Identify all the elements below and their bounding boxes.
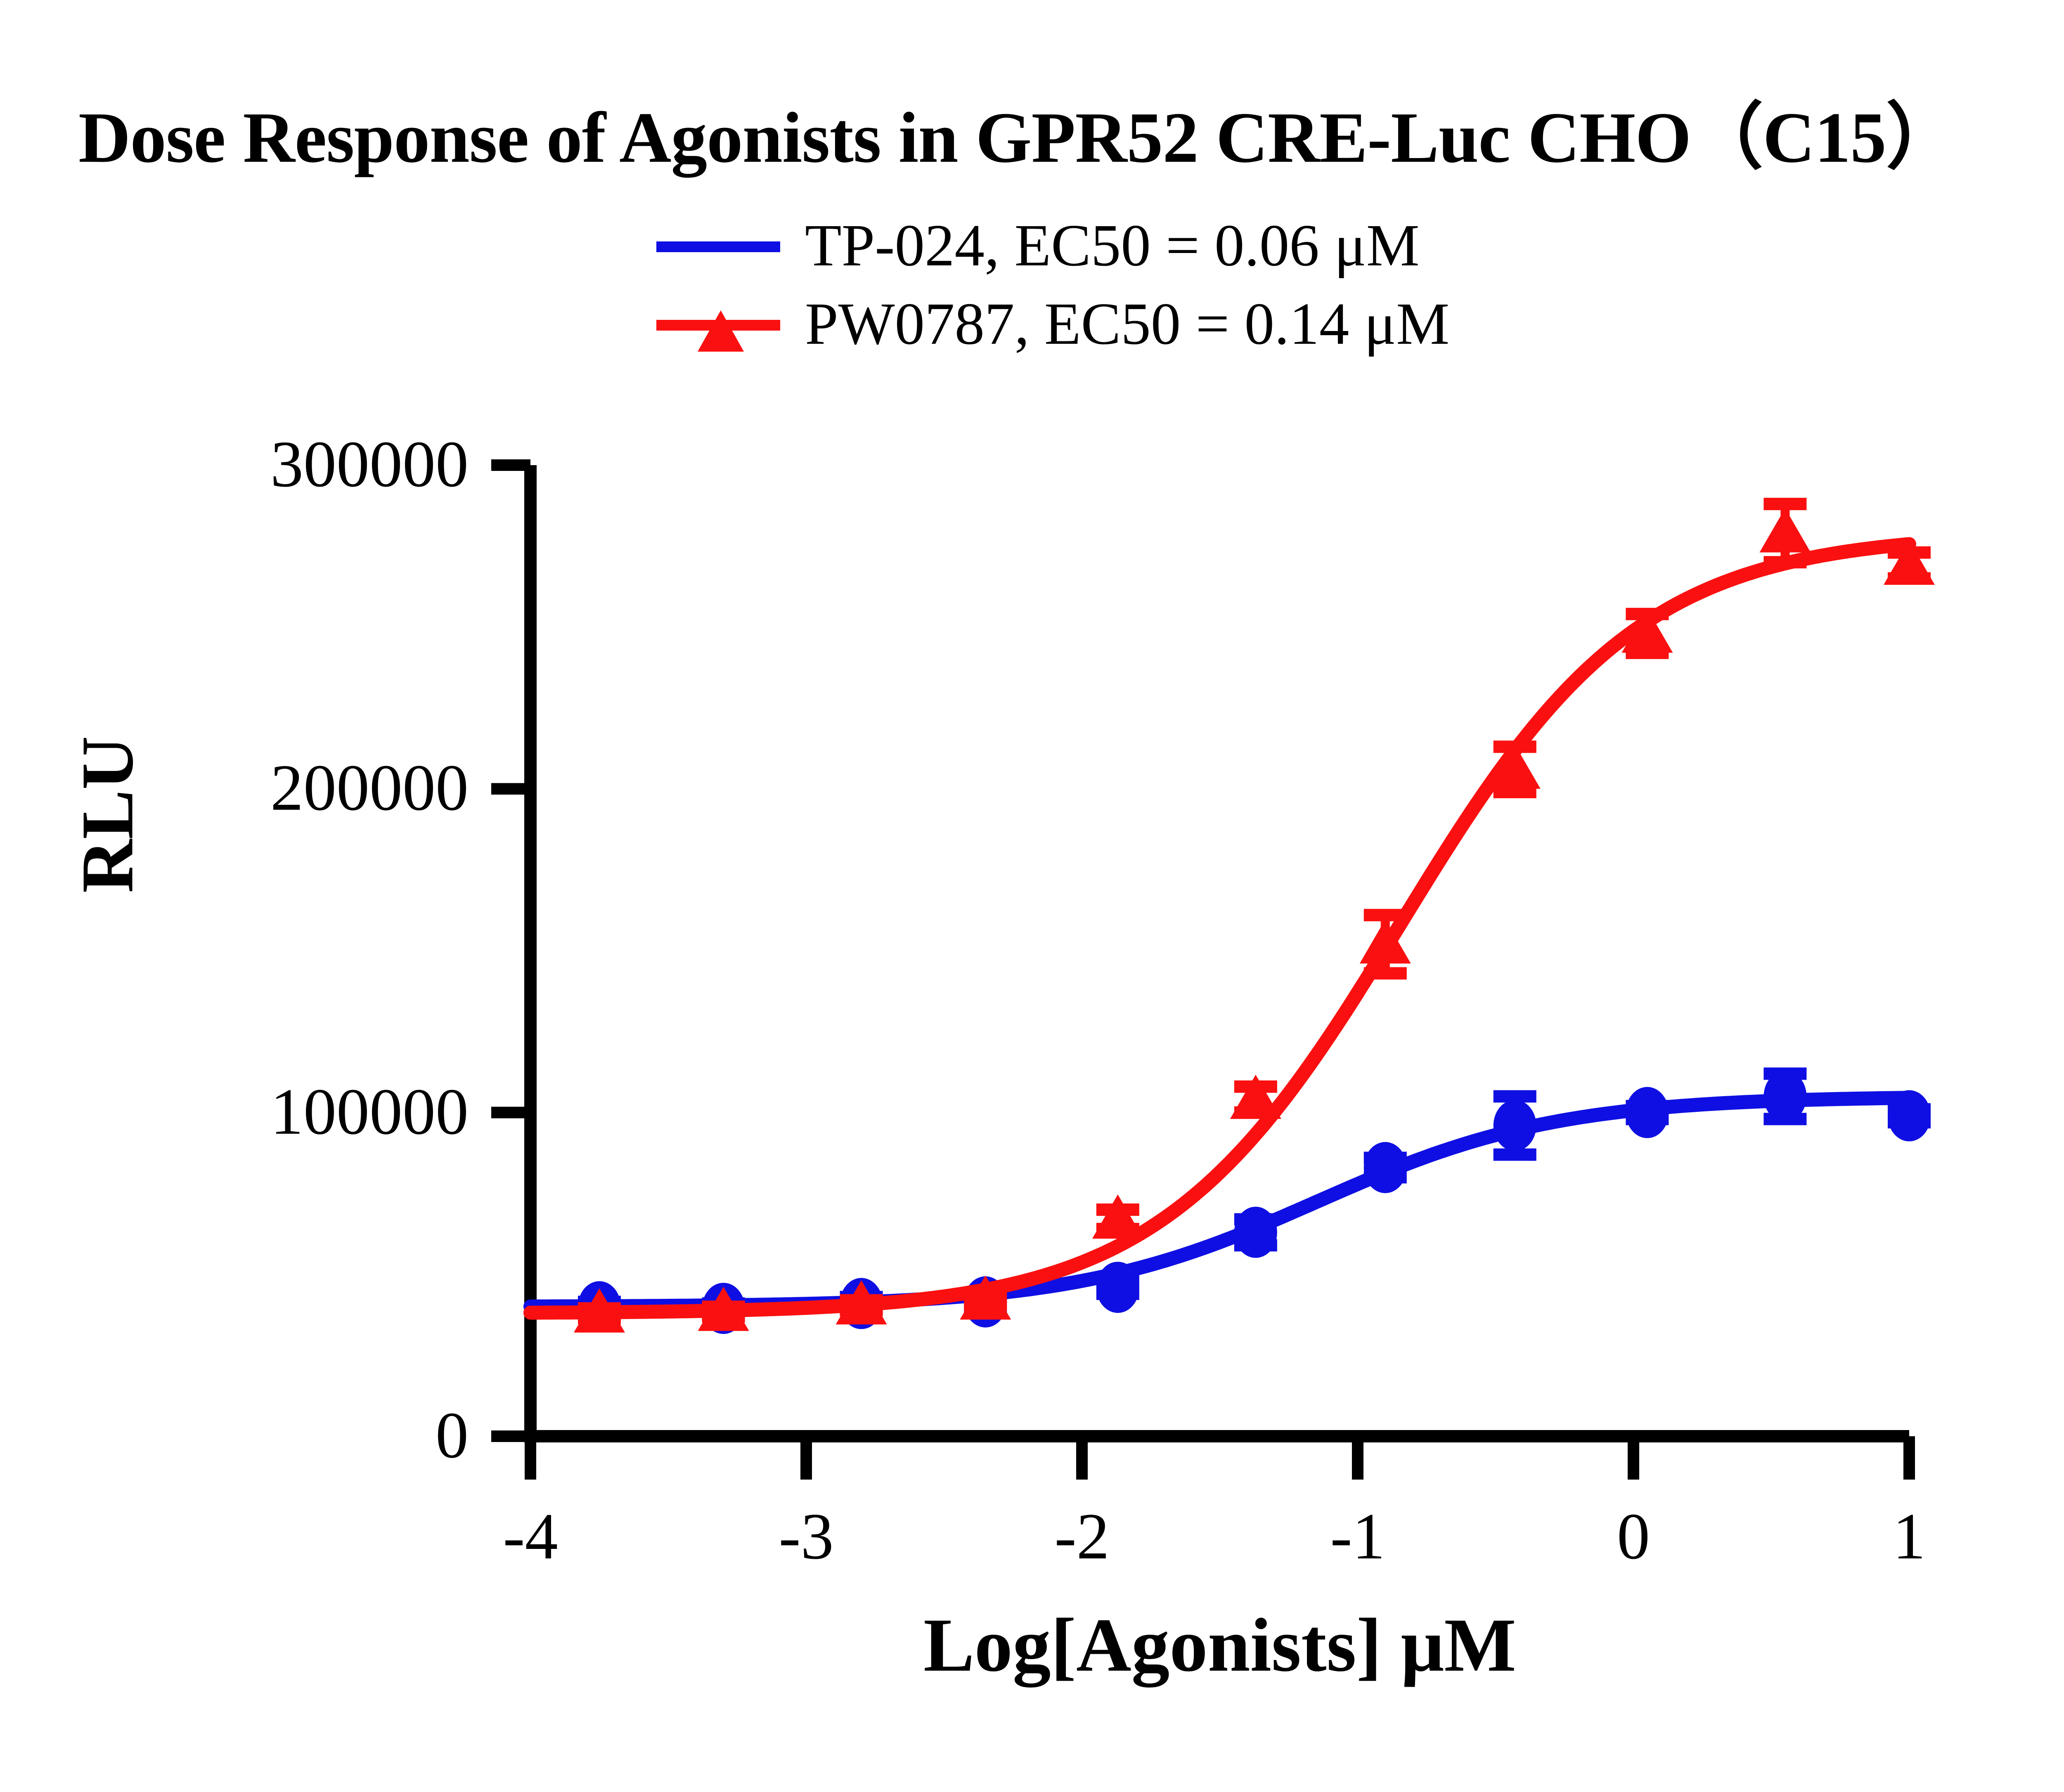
- data-point-marker[interactable]: [1888, 1090, 1931, 1142]
- series-1: [530, 1071, 1931, 1334]
- x-tick-label: -4: [448, 1498, 613, 1575]
- data-point-marker[interactable]: [1759, 508, 1811, 552]
- data-point-marker[interactable]: [1763, 1071, 1806, 1122]
- series-2: [530, 504, 1935, 1333]
- y-tick-label: 100000: [0, 1073, 469, 1150]
- data-point-marker[interactable]: [1096, 1262, 1139, 1313]
- data-series: [530, 504, 1935, 1334]
- data-point-marker[interactable]: [1364, 1142, 1407, 1193]
- x-tick-label: 0: [1551, 1498, 1716, 1575]
- x-tick-label: -3: [724, 1498, 889, 1575]
- data-point-marker[interactable]: [1626, 1087, 1669, 1138]
- y-tick-label: 200000: [0, 749, 469, 826]
- y-tick-label: 0: [0, 1397, 469, 1473]
- x-tick-label: -2: [999, 1498, 1165, 1575]
- data-point-marker[interactable]: [1494, 1100, 1536, 1151]
- data-point-marker[interactable]: [1234, 1207, 1277, 1258]
- chart-figure: Dose Response of Agonists in GPR52 CRE-L…: [0, 0, 2064, 1792]
- data-point-marker[interactable]: [1092, 1194, 1143, 1239]
- series-curve: [530, 1098, 1909, 1307]
- y-tick-label: 300000: [0, 426, 469, 502]
- x-tick-label: -1: [1275, 1498, 1440, 1575]
- x-tick-label: 1: [1827, 1498, 1992, 1575]
- series-curve: [530, 544, 1909, 1312]
